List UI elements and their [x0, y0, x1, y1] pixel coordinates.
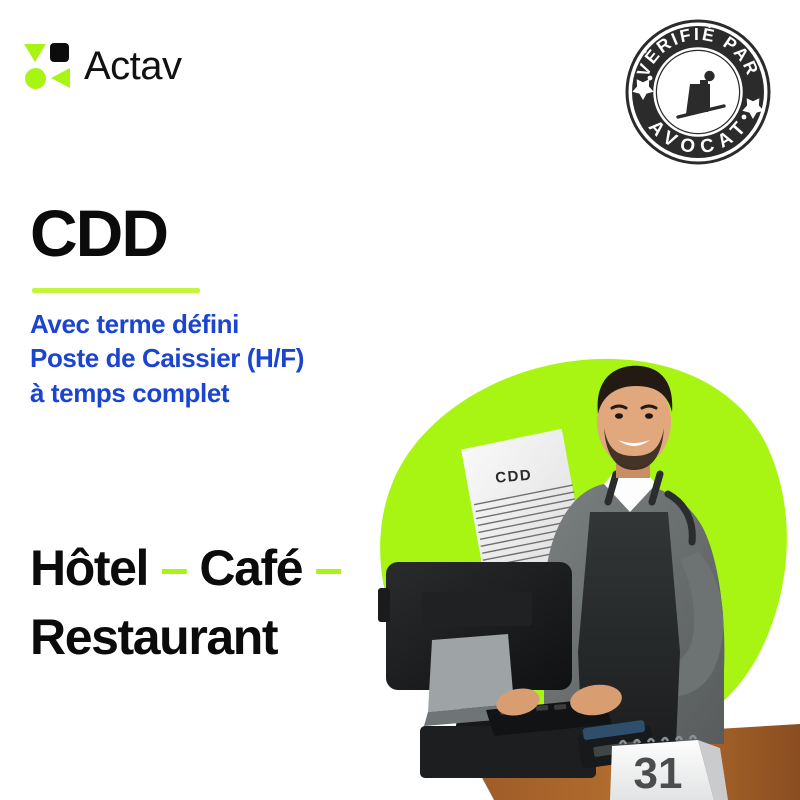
logo-blob-icon: [25, 68, 46, 89]
eye-left: [615, 413, 623, 419]
logo-triangle-left-icon: [51, 68, 70, 88]
actav-logo-mark-icon: [24, 42, 70, 90]
verified-by-lawyer-stamp: VÉRIFIÉ PAR AVOCAT: [624, 18, 772, 166]
sector-word-hotel: Hôtel: [30, 540, 148, 596]
sector-dash-1: –: [148, 540, 199, 596]
title-underline-rule: [32, 288, 200, 293]
brand-logo[interactable]: Actav: [24, 42, 182, 90]
poster-canvas: Actav VÉRIFIÉ PAR AVOCAT: [0, 0, 800, 800]
logo-triangle-down-icon: [24, 44, 46, 62]
logo-square-icon: [50, 43, 69, 62]
sector-dash-2: –: [302, 540, 341, 596]
subtitle-line-1: Avec terme défini: [30, 307, 450, 341]
sector-word-cafe: Café: [199, 540, 302, 596]
brand-name: Actav: [84, 46, 182, 86]
page-title: CDD: [30, 200, 450, 266]
eye-right: [645, 413, 653, 419]
contract-title: CDD: [495, 467, 533, 487]
hero-photo: CDD: [368, 352, 800, 800]
calendar-day: 31: [634, 749, 683, 798]
desk-calendar: 31: [610, 736, 728, 800]
